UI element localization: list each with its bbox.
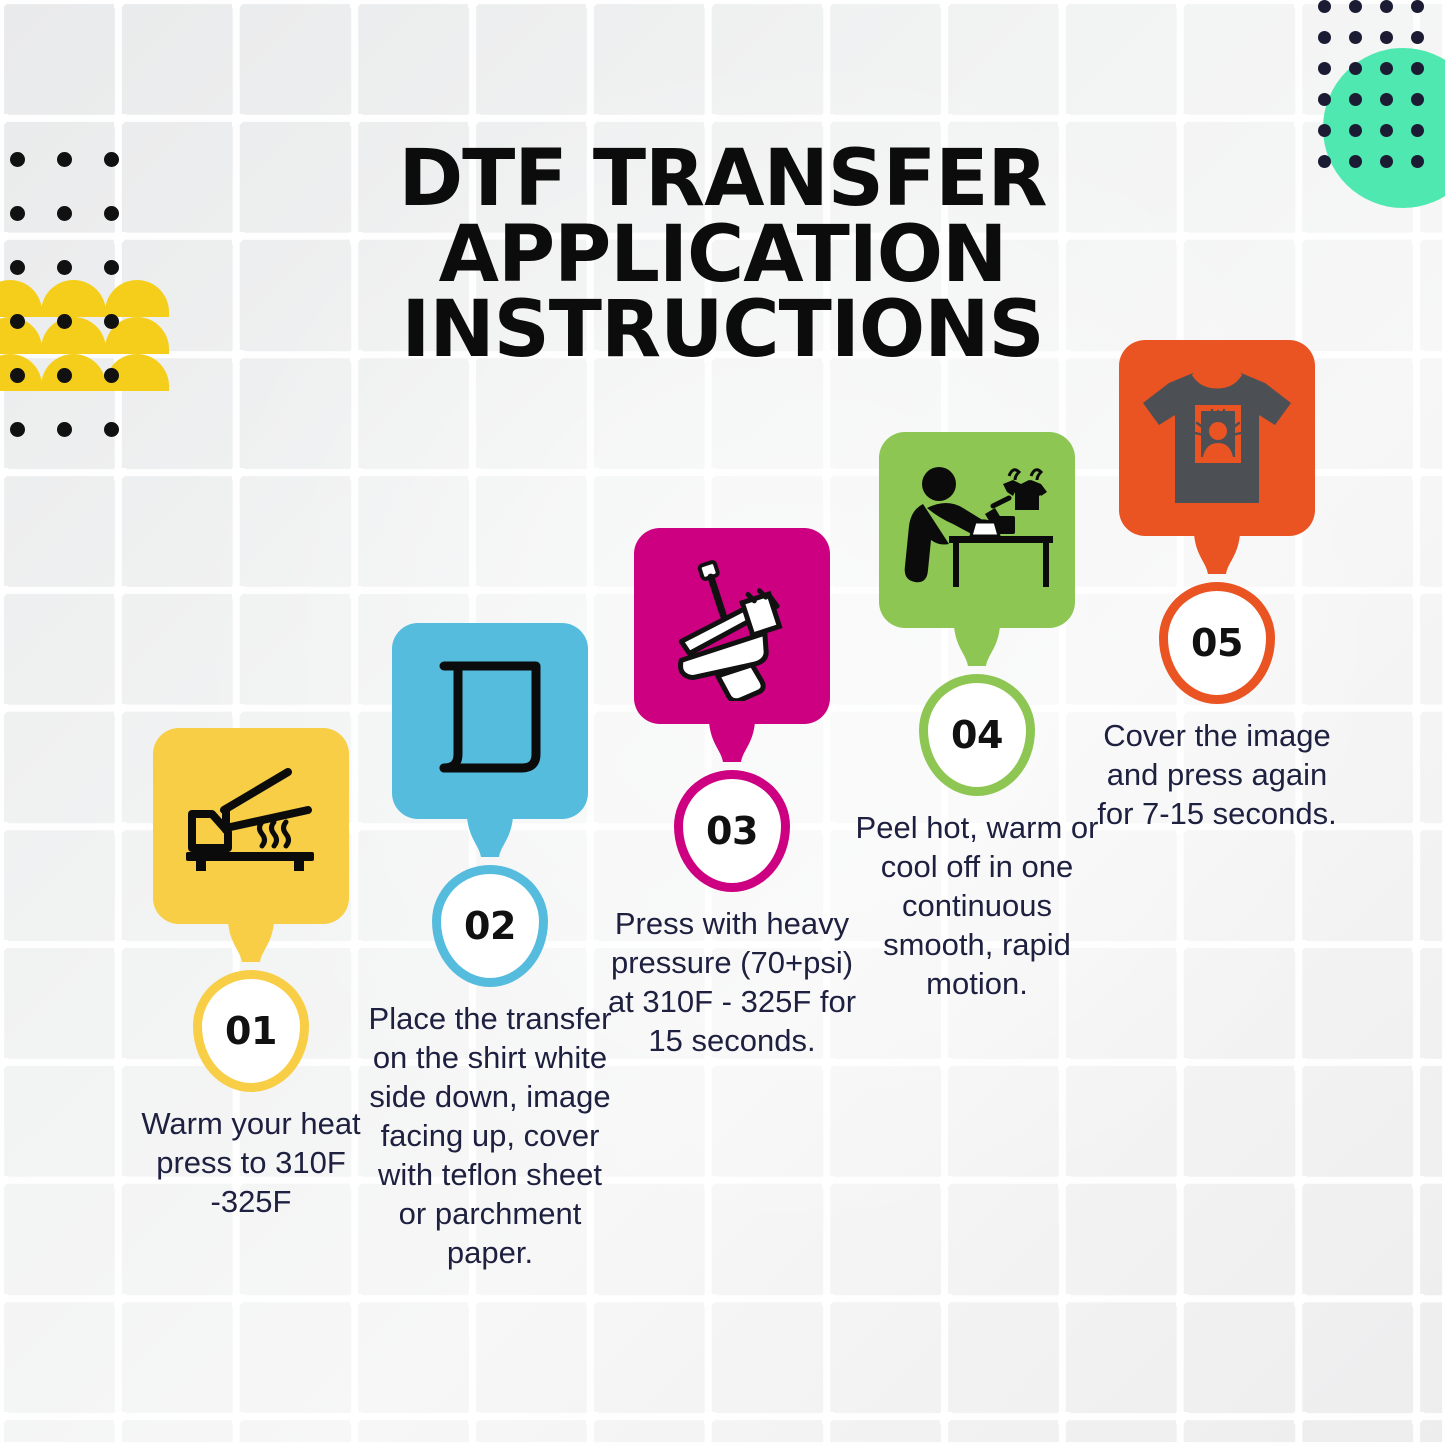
decorative-dot bbox=[104, 206, 119, 221]
step-icon-card[interactable] bbox=[634, 528, 830, 724]
decorative-dot bbox=[1318, 31, 1331, 44]
step-number-label: 01 bbox=[193, 970, 309, 1092]
top-right-dot-grid-decoration bbox=[1318, 0, 1445, 160]
step-number-label: 04 bbox=[919, 674, 1035, 796]
decorative-dot bbox=[104, 260, 119, 275]
step-description: Press with heavy pressure (70+psi) at 31… bbox=[607, 904, 857, 1060]
step-number-label: 02 bbox=[432, 865, 548, 987]
decorative-dot bbox=[10, 422, 25, 437]
step-description: Cover the image and press again for 7-15… bbox=[1092, 716, 1342, 833]
decorative-dot bbox=[1349, 93, 1362, 106]
step-01: 01 Warm your heat press to 310F -325F bbox=[126, 728, 376, 1221]
step-icon-card[interactable] bbox=[392, 623, 588, 819]
decorative-dot bbox=[1380, 62, 1393, 75]
step-04: 04 Peel hot, warm or cool off in one con… bbox=[852, 432, 1102, 1003]
decorative-dot bbox=[1349, 0, 1362, 13]
step-icon-card[interactable] bbox=[879, 432, 1075, 628]
decorative-dot bbox=[1349, 31, 1362, 44]
decorative-dot bbox=[10, 152, 25, 167]
step-03: 03 Press with heavy pressure (70+psi) at… bbox=[607, 528, 857, 1060]
step-description: Peel hot, warm or cool off in one contin… bbox=[852, 808, 1102, 1003]
decorative-dot bbox=[57, 206, 72, 221]
step-icon-card[interactable] bbox=[153, 728, 349, 924]
decorative-dot bbox=[1349, 124, 1362, 137]
decorative-dot bbox=[104, 368, 119, 383]
decorative-dot bbox=[1318, 93, 1331, 106]
decorative-dot bbox=[57, 260, 72, 275]
page-title: DTF TRANSFER APPLICATION INSTRUCTIONS bbox=[120, 142, 1325, 369]
decorative-dot bbox=[1380, 0, 1393, 13]
decorative-dot bbox=[57, 368, 72, 383]
step-description: Warm your heat press to 310F -325F bbox=[126, 1104, 376, 1221]
step-icon-card[interactable] bbox=[1119, 340, 1315, 536]
step-number-badge[interactable]: 05 bbox=[1159, 582, 1275, 704]
peeling-transfer-icon bbox=[897, 460, 1057, 600]
step-number-badge[interactable]: 04 bbox=[919, 674, 1035, 796]
decorative-dot bbox=[1411, 62, 1424, 75]
decorative-dot bbox=[10, 314, 25, 329]
decorative-dot bbox=[104, 314, 119, 329]
step-05: 05 Cover the image and press again for 7… bbox=[1092, 340, 1342, 833]
printed-tshirt-icon bbox=[1137, 363, 1297, 513]
decorative-dot bbox=[1380, 93, 1393, 106]
decorative-dot bbox=[1380, 31, 1393, 44]
decorative-dot bbox=[1318, 62, 1331, 75]
decorative-dot bbox=[1318, 0, 1331, 13]
heat-press-open-icon bbox=[176, 766, 326, 886]
decorative-dot bbox=[1318, 124, 1331, 137]
teal-circle-decoration bbox=[1323, 48, 1445, 208]
decorative-dot bbox=[1411, 124, 1424, 137]
decorative-dot bbox=[1411, 31, 1424, 44]
decorative-dot bbox=[57, 152, 72, 167]
decorative-dot bbox=[104, 152, 119, 167]
step-number-badge[interactable]: 03 bbox=[674, 770, 790, 892]
step-number-label: 03 bbox=[674, 770, 790, 892]
decorative-dot bbox=[1349, 155, 1362, 168]
title-line-1: DTF TRANSFER APPLICATION bbox=[398, 134, 1046, 300]
step-description: Place the transfer on the shirt white si… bbox=[365, 999, 615, 1272]
infographic-canvas: DTF TRANSFER APPLICATION INSTRUCTIONS bbox=[0, 0, 1445, 1445]
decorative-dot bbox=[1411, 93, 1424, 106]
decorative-dot bbox=[1349, 62, 1362, 75]
decorative-dot bbox=[104, 422, 119, 437]
step-number-badge[interactable]: 02 bbox=[432, 865, 548, 987]
decorative-dot bbox=[1380, 155, 1393, 168]
decorative-dot bbox=[57, 422, 72, 437]
step-02: 02 Place the transfer on the shirt white… bbox=[365, 623, 615, 1272]
decorative-dot bbox=[57, 314, 72, 329]
transfer-sheet-icon bbox=[430, 656, 550, 786]
decorative-dot bbox=[1380, 124, 1393, 137]
decorative-dot bbox=[1411, 155, 1424, 168]
decorative-dot bbox=[10, 368, 25, 383]
step-number-badge[interactable]: 01 bbox=[193, 970, 309, 1092]
decorative-dot bbox=[10, 206, 25, 221]
heat-press-machine-icon bbox=[657, 551, 807, 701]
decorative-dot bbox=[10, 260, 25, 275]
decorative-dot bbox=[1411, 0, 1424, 13]
step-number-label: 05 bbox=[1159, 582, 1275, 704]
